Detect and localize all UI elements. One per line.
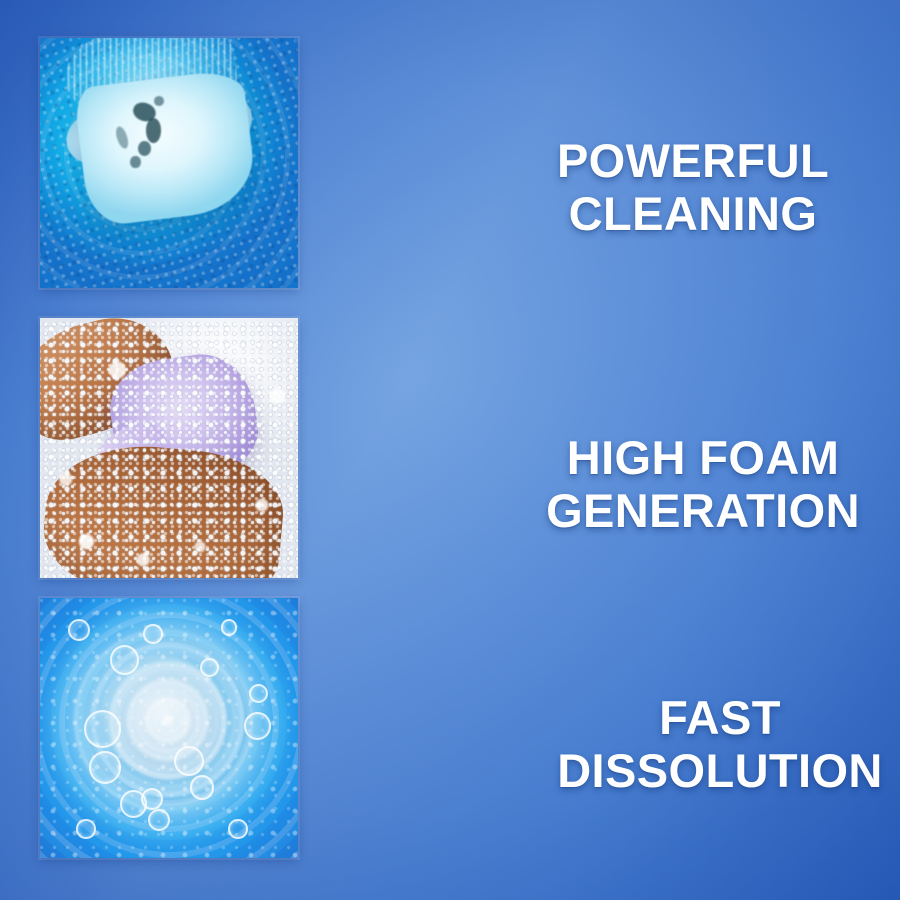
stain-mark — [146, 118, 161, 143]
caption-line-2: DISSOLUTION — [485, 745, 900, 798]
caption-line-2: CLEANING — [458, 188, 900, 241]
stained-white-shirt-in-blue-soapy-water-photo — [40, 38, 298, 288]
feature-image-fast-dissolution — [40, 598, 298, 858]
poster-canvas: POWERFUL CLEANING HIGH FOAM GENERATION F… — [0, 0, 900, 900]
feature-image-high-foam-generation — [40, 318, 298, 578]
caption-line-1: POWERFUL — [458, 135, 900, 188]
feature-caption-column: POWERFUL CLEANING HIGH FOAM GENERATION F… — [360, 0, 900, 900]
caption-line-2: GENERATION — [468, 485, 900, 538]
caption-line-1: FAST — [485, 692, 900, 745]
bubble-ring — [84, 710, 122, 748]
bubble-ring — [221, 619, 238, 636]
bubble-ring — [110, 645, 140, 675]
bubble-ring — [148, 809, 170, 831]
feature-image-powerful-cleaning — [40, 38, 298, 288]
detergent-dissolving-swirl-in-water-photo — [40, 598, 298, 858]
stain-mark — [130, 156, 140, 169]
caption-high-foam-generation: HIGH FOAM GENERATION — [468, 432, 900, 537]
caption-fast-dissolution: FAST DISSOLUTION — [485, 692, 900, 797]
stain-mark — [154, 96, 164, 106]
bubble-ring — [244, 712, 271, 739]
bubble-ring — [76, 819, 95, 839]
caption-line-1: HIGH FOAM — [468, 432, 900, 485]
stain-mark — [138, 141, 151, 156]
bubble-ring — [174, 746, 204, 776]
bubble-ring — [141, 788, 163, 810]
bubble-ring — [143, 624, 162, 644]
bubble-ring — [190, 775, 215, 800]
caption-powerful-cleaning: POWERFUL CLEANING — [458, 135, 900, 240]
hands-washing-lavender-cloth-in-foam-photo — [40, 318, 298, 578]
foam-grain-layer — [40, 318, 298, 578]
bubble-ring — [228, 819, 247, 839]
